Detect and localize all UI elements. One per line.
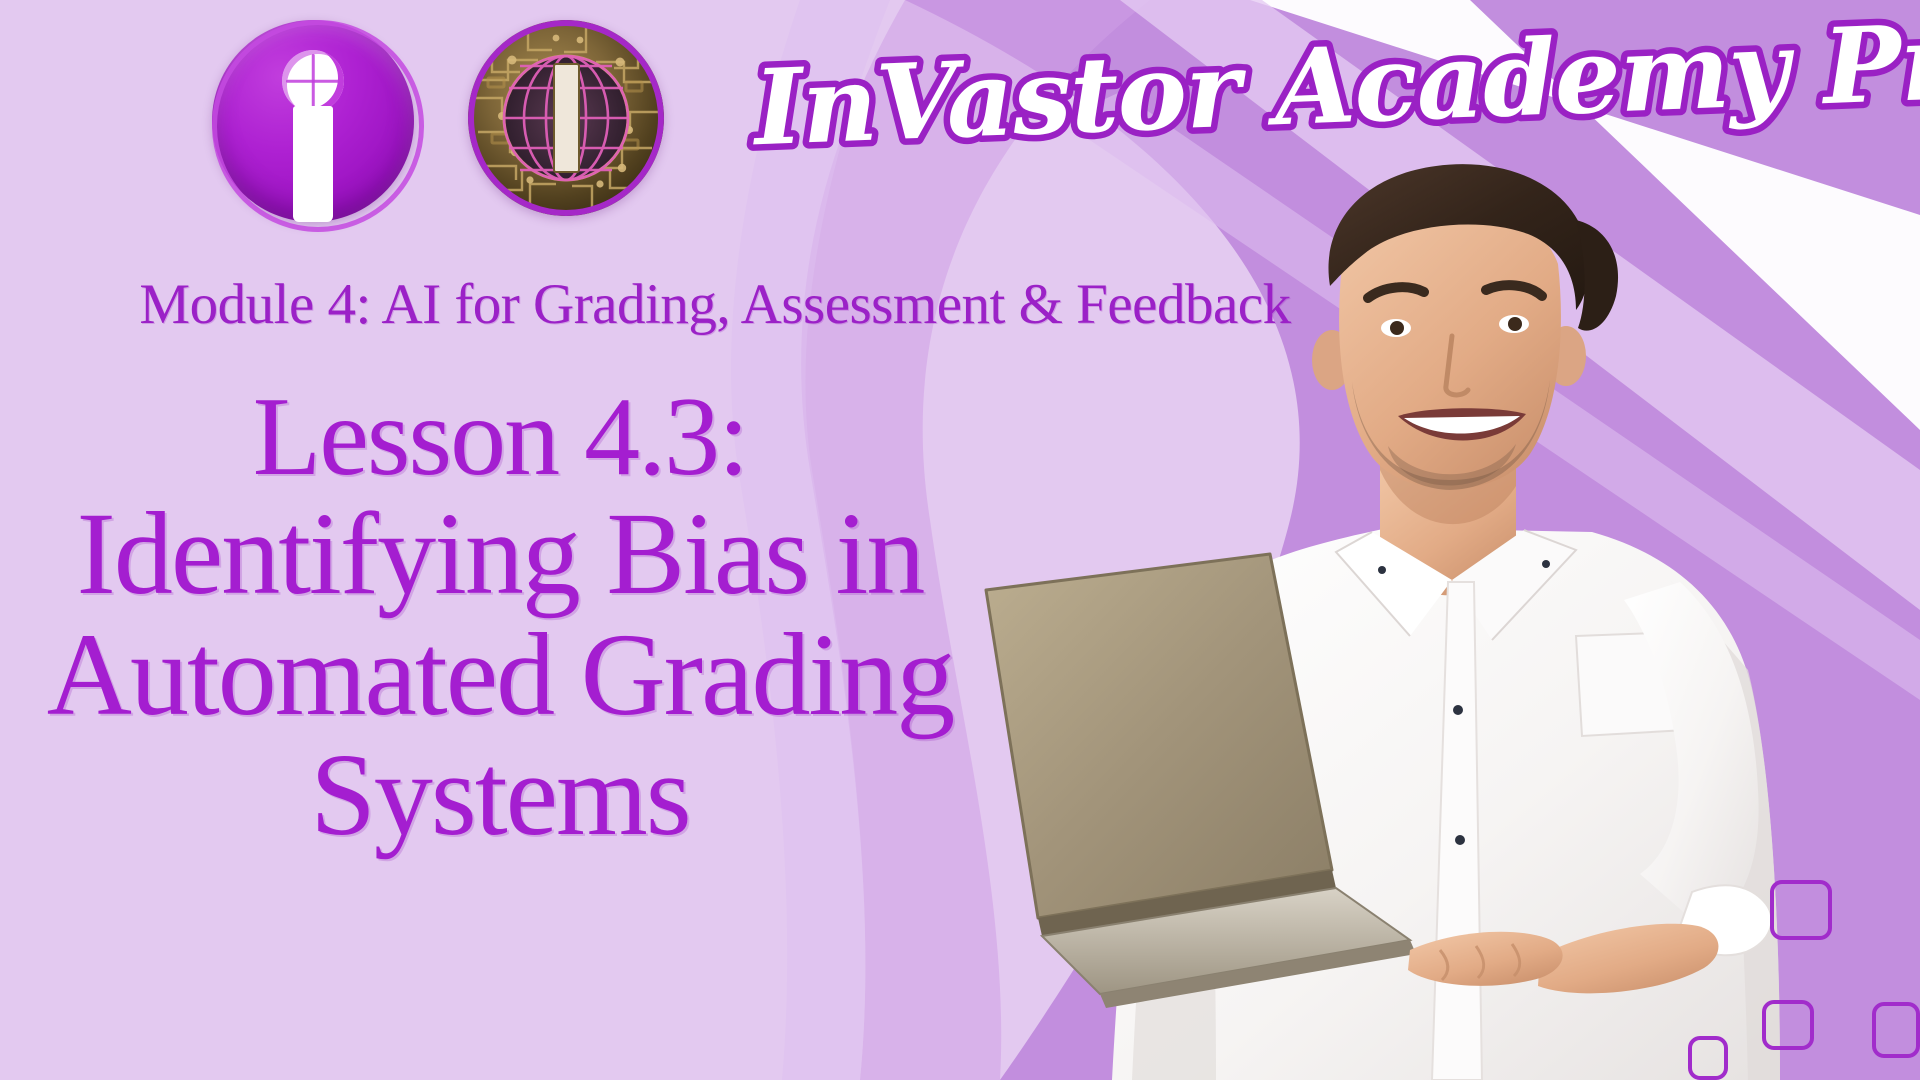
letter-i-stem bbox=[293, 106, 333, 222]
presenter-head bbox=[1312, 164, 1618, 490]
circuit-coin-svg bbox=[468, 20, 664, 216]
lesson-title-line-4: Systems bbox=[0, 735, 1000, 855]
laptop-lid bbox=[986, 554, 1332, 918]
slide-canvas: InVastor Academy Professional InVastor A… bbox=[0, 0, 1920, 1080]
corner-decoration bbox=[1660, 850, 1920, 1080]
brand-title: InVastor Academy Professional InVastor A… bbox=[748, 22, 1920, 162]
decor-rounded-square-2 bbox=[1762, 1000, 1814, 1050]
invastor-circuit-globe-coin-icon bbox=[468, 20, 664, 216]
decor-rounded-square-3 bbox=[1872, 1002, 1920, 1058]
invastor-i-globe-coin-icon bbox=[212, 20, 414, 222]
lesson-title-line-3: Automated Grading bbox=[0, 615, 1000, 735]
brand-title-text: InVastor Academy Professional bbox=[749, 0, 1920, 169]
brand-title-svg: InVastor Academy Professional InVastor A… bbox=[748, 22, 1920, 162]
lesson-title-block: Lesson 4.3: Identifying Bias in Automate… bbox=[0, 380, 1000, 855]
lesson-title-line-1: Lesson 4.3: bbox=[0, 380, 1000, 494]
decor-rounded-square-1 bbox=[1770, 880, 1832, 940]
lesson-title-line-2: Identifying Bias in bbox=[0, 494, 1000, 614]
coin-glyph bbox=[212, 20, 414, 222]
decor-rounded-square-4 bbox=[1688, 1036, 1728, 1080]
globe-icon bbox=[282, 50, 344, 112]
